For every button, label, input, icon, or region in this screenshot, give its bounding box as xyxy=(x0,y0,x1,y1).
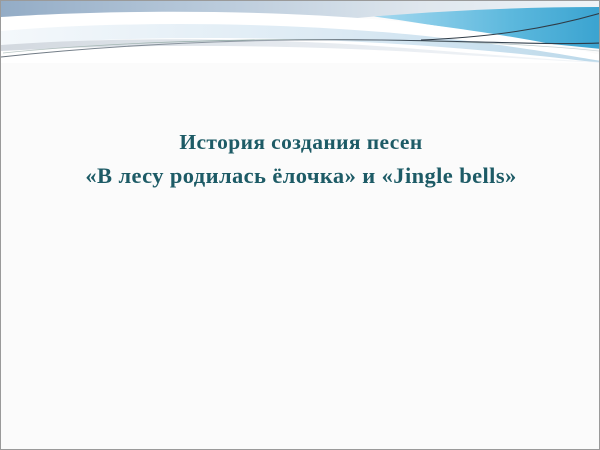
header-wave-decoration xyxy=(1,1,600,63)
wave-steel-band xyxy=(1,1,600,51)
title-line-1: История создания песен xyxy=(1,125,600,159)
wave-grey-band xyxy=(1,39,600,63)
header-wave-svg xyxy=(1,1,600,63)
wave-sky-blue xyxy=(241,1,600,49)
title-line-2: «В лесу родилась ёлочка» и «Jingle bells… xyxy=(1,159,600,193)
wave-white-base xyxy=(1,46,600,63)
slide-title: История создания песен «В лесу родилась … xyxy=(1,125,600,193)
wave-dark-outline-upper xyxy=(421,13,600,40)
wave-pale-blue-band xyxy=(1,24,600,63)
wave-hairline-teal xyxy=(3,40,599,54)
wave-dark-outline xyxy=(1,40,600,57)
wave-white-sweep xyxy=(1,12,600,63)
presentation-slide: История создания песен «В лесу родилась … xyxy=(0,0,600,450)
